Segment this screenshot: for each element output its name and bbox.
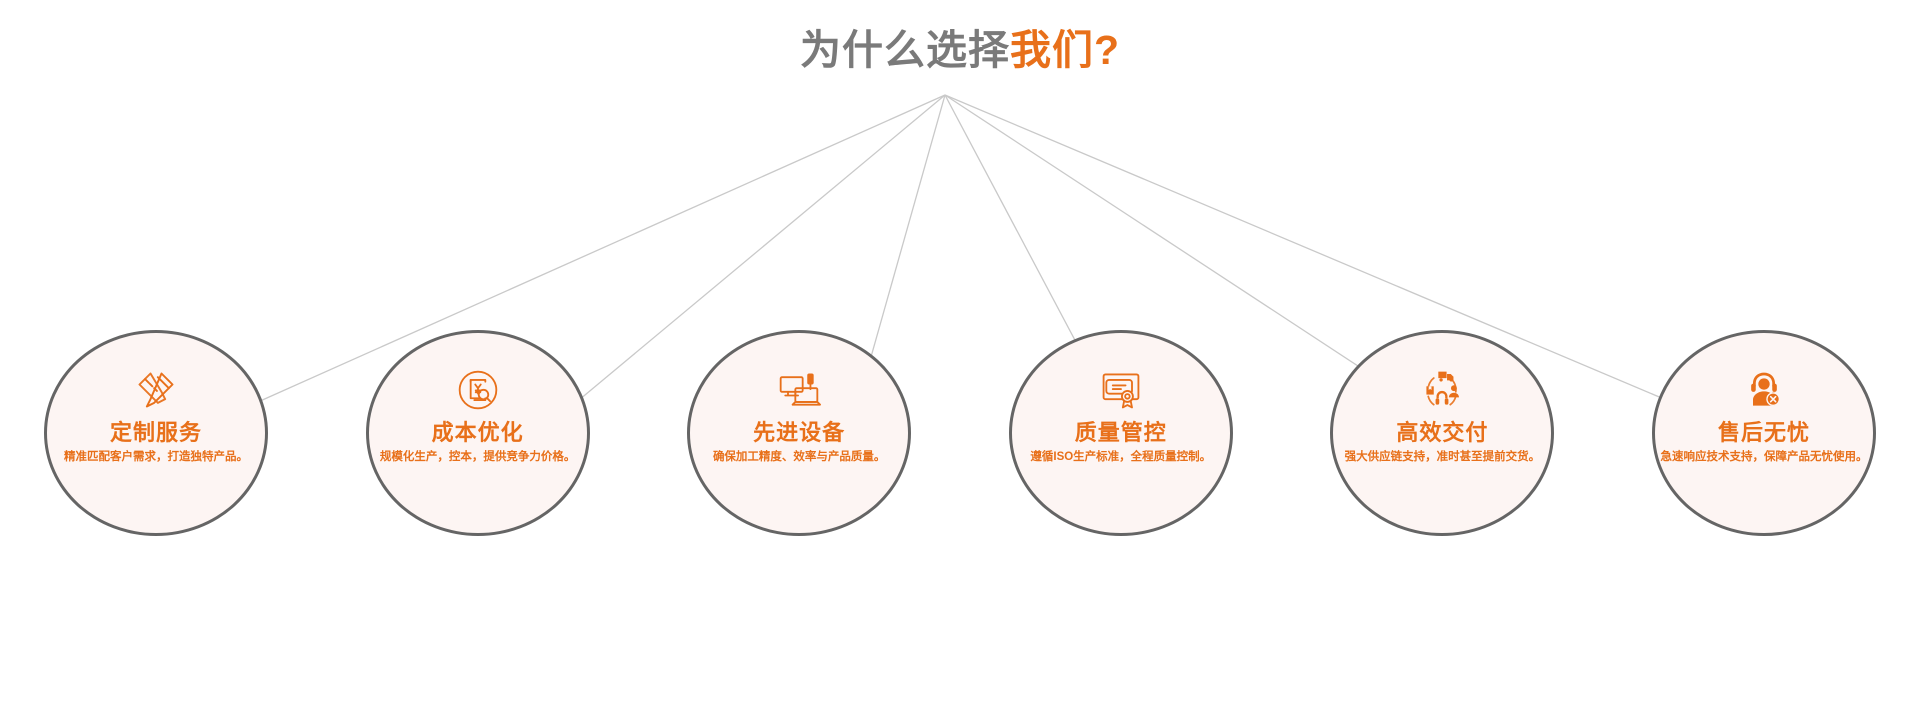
feature-card-title: 质量管控	[1075, 421, 1167, 445]
page-title-prefix: 为什么选择	[800, 27, 1010, 73]
feature-card-title: 先进设备	[753, 421, 845, 445]
feature-card-quality-control[interactable]: 质量管控 遵循ISO生产标准，全程质量控制。	[1009, 330, 1233, 536]
feature-card-title: 成本优化	[432, 421, 524, 445]
headset-support-icon	[1741, 367, 1787, 413]
feature-card-description: 精准匹配客户需求，打造独特产品。	[64, 451, 248, 465]
cost-search-icon	[455, 367, 501, 413]
feature-circle-row: 定制服务 精准匹配客户需求，打造独特产品。 成本优化 规模化生产，控本，提供竞争…	[0, 330, 1920, 560]
page-title-accent: 我们?	[1010, 27, 1120, 73]
feature-card-description: 确保加工精度、效率与产品质量。	[713, 451, 886, 465]
feature-card-title: 定制服务	[110, 421, 202, 445]
certificate-icon	[1098, 367, 1144, 413]
computer-equipment-icon	[776, 367, 822, 413]
feature-card-description: 急速响应技术支持，保障产品无忧使用。	[1660, 451, 1867, 465]
page-title-text: 为什么选择我们?	[800, 26, 1120, 75]
feature-card-after-sales[interactable]: 售后无忧 急速响应技术支持，保障产品无忧使用。	[1652, 330, 1876, 536]
pencil-ruler-icon	[133, 367, 179, 413]
feature-card-cost-optimization[interactable]: 成本优化 规模化生产，控本，提供竞争力价格。	[366, 330, 590, 536]
feature-card-description: 强大供应链支持，准时甚至提前交货。	[1345, 451, 1541, 465]
feature-card-advanced-equipment[interactable]: 先进设备 确保加工精度、效率与产品质量。	[687, 330, 911, 536]
feature-card-description: 遵循ISO生产标准，全程质量控制。	[1030, 451, 1211, 465]
feature-card-title: 售后无忧	[1718, 421, 1810, 445]
feature-card-description: 规模化生产，控本，提供竞争力价格。	[380, 451, 576, 465]
why-choose-us-infographic: 为什么选择我们? 定制服务 精准匹配客户需求，打造独特产品	[0, 0, 1920, 719]
feature-card-custom-service[interactable]: 定制服务 精准匹配客户需求，打造独特产品。	[44, 330, 268, 536]
page-title: 为什么选择我们?	[0, 26, 1920, 75]
supply-chain-truck-icon	[1419, 367, 1465, 413]
feature-card-efficient-delivery[interactable]: 高效交付 强大供应链支持，准时甚至提前交货。	[1330, 330, 1554, 536]
feature-card-title: 高效交付	[1396, 421, 1488, 445]
